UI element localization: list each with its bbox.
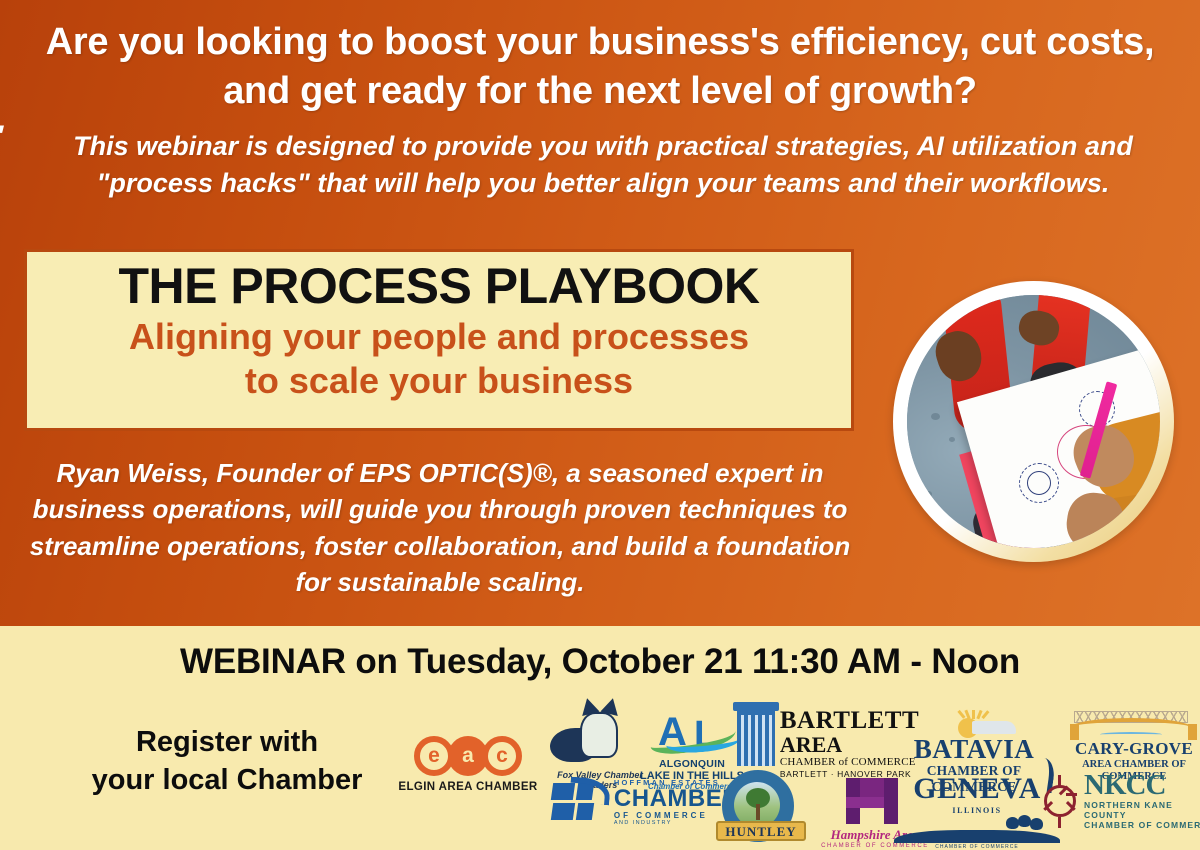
column-icon [737, 708, 775, 766]
photo-speck [949, 437, 955, 442]
block-shape [576, 803, 594, 820]
swoosh-icon [569, 777, 611, 806]
register-line-1: Register with [62, 724, 392, 762]
workshop-photo [907, 295, 1160, 548]
logo-line-3: CHAMBER OF COMMERCE [894, 844, 1060, 850]
huntley-banner: HUNTLEY [716, 821, 806, 841]
river-wave-icon [894, 830, 1060, 843]
subheadline: This webinar is designed to provide you … [38, 128, 1168, 203]
h-shade [860, 778, 884, 797]
bridge-pier [1070, 724, 1079, 740]
title-card: THE PROCESS PLAYBOOK Aligning your peopl… [24, 249, 854, 431]
bridge-icon [1060, 710, 1200, 740]
column-capital-icon [733, 702, 779, 711]
nkcc-text-block: NKCC NORTHERN KANE COUNTY CHAMBER OF COM… [1084, 772, 1200, 830]
speaker-photo-frame [893, 281, 1174, 562]
sun-sweep [972, 721, 1016, 734]
edge-quote-artifact: ' [0, 122, 3, 152]
nkcc-mark-row: NKCC NORTHERN KANE COUNTY CHAMBER OF COM… [1036, 772, 1200, 830]
sunrise-icon [896, 712, 1052, 736]
eac-mark-icon: e a c [394, 736, 542, 776]
chamber-logo-strip: e a c ELGIN AREA CHAMBER Fox Valley Cham… [388, 706, 1200, 840]
logo-northern-kane-county-chamber[interactable]: NKCC NORTHERN KANE COUNTY CHAMBER OF COM… [1036, 772, 1200, 830]
logo-line-1: GENEVA [913, 772, 1040, 805]
photo-speck [931, 413, 940, 420]
logo-line-1: BATAVIA [896, 736, 1052, 763]
register-callout: Register with your local Chamber [62, 724, 392, 799]
logo-huntley-area-chamber[interactable]: HUNTLEY [706, 770, 810, 842]
speaker-bio: Ryan Weiss, Founder of EPS OPTIC(S)®, a … [10, 455, 870, 601]
webinar-flyer: ' Are you looking to boost your business… [0, 0, 1200, 840]
sun-ray [981, 710, 989, 719]
logo-line-1: NORTHERN KANE COUNTY [1084, 800, 1200, 820]
logo-caption: ELGIN AREA CHAMBER [394, 781, 542, 793]
bridge-pier [1188, 724, 1197, 740]
sun-ray [1058, 817, 1061, 828]
headline: Are you looking to boost your business's… [30, 18, 1170, 115]
water-line [1100, 732, 1162, 737]
nkcc-sunburst-icon [1036, 777, 1084, 825]
register-line-2: your local Chamber [62, 762, 392, 800]
webinar-datetime: WEBINAR on Tuesday, October 21 11:30 AM … [0, 642, 1200, 682]
tree-trunk [756, 804, 760, 820]
block-shape [551, 803, 575, 820]
logo-line-1: CARY-GROVE [1060, 740, 1200, 759]
sun-ring [1044, 785, 1076, 817]
eac-letter: c [482, 736, 522, 776]
nkcc-monogram: NKCC [1084, 772, 1200, 800]
hoffman-blocks-icon [550, 779, 608, 825]
title-subtitle-line-2: to scale your business [27, 361, 851, 401]
logo-line-2: CHAMBER OF COMMERCE [1084, 820, 1200, 830]
photo-diagram-circle [1027, 471, 1051, 495]
tree-icon [1006, 817, 1019, 829]
photo-speck [925, 491, 932, 497]
sun-ray [972, 710, 975, 719]
huntley-seal-icon: HUNTLEY [722, 770, 794, 842]
fox-body-shape [580, 712, 618, 758]
logo-elgin-area-chamber[interactable]: e a c ELGIN AREA CHAMBER [394, 736, 542, 793]
page-title: THE PROCESS PLAYBOOK [27, 260, 851, 313]
title-subtitle-line-1: Aligning your people and processes [27, 317, 851, 357]
